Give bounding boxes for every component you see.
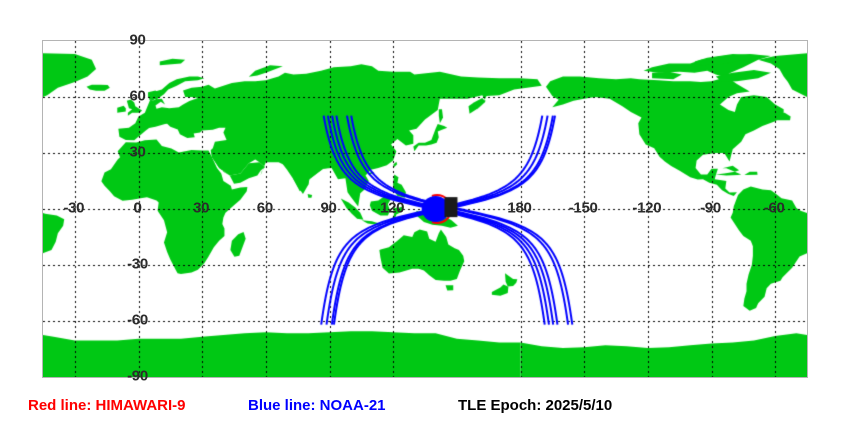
- lat-tick-90: 90: [129, 33, 145, 48]
- lat-tick-60: 60: [129, 89, 145, 104]
- tle-epoch-label: TLE Epoch: 2025/5/10: [458, 396, 612, 416]
- lon-tick-neg90: -90: [700, 201, 721, 216]
- lon-tick-0: 0: [133, 201, 141, 216]
- map-plot-frame: [42, 40, 808, 378]
- satellite-map-figure: 9060300-30-60-90 -300306090120180-150-12…: [0, 0, 850, 425]
- legend-blue-line-noaa: Blue line: NOAA-21: [248, 396, 386, 416]
- map-caption: Red line: HIMAWARI-9 Blue line: NOAA-21 …: [0, 393, 850, 419]
- lon-tick-neg120: -120: [632, 201, 661, 216]
- lat-tick-neg60: -60: [127, 313, 148, 328]
- lat-tick-30: 30: [129, 145, 145, 160]
- lon-tick-neg60: -60: [764, 201, 785, 216]
- lon-tick-120: 120: [380, 201, 404, 216]
- lon-tick-60: 60: [257, 201, 273, 216]
- lon-tick-180: 180: [507, 201, 531, 216]
- lat-tick-neg90: -90: [127, 369, 148, 384]
- lon-tick-neg150: -150: [569, 201, 598, 216]
- lon-tick-90: 90: [320, 201, 336, 216]
- lon-tick-neg30: -30: [63, 201, 84, 216]
- lat-tick-neg30: -30: [127, 257, 148, 272]
- lon-tick-30: 30: [193, 201, 209, 216]
- satellite-track-overlay-canvas: [43, 41, 807, 377]
- legend-red-line-himawari: Red line: HIMAWARI-9: [28, 396, 186, 416]
